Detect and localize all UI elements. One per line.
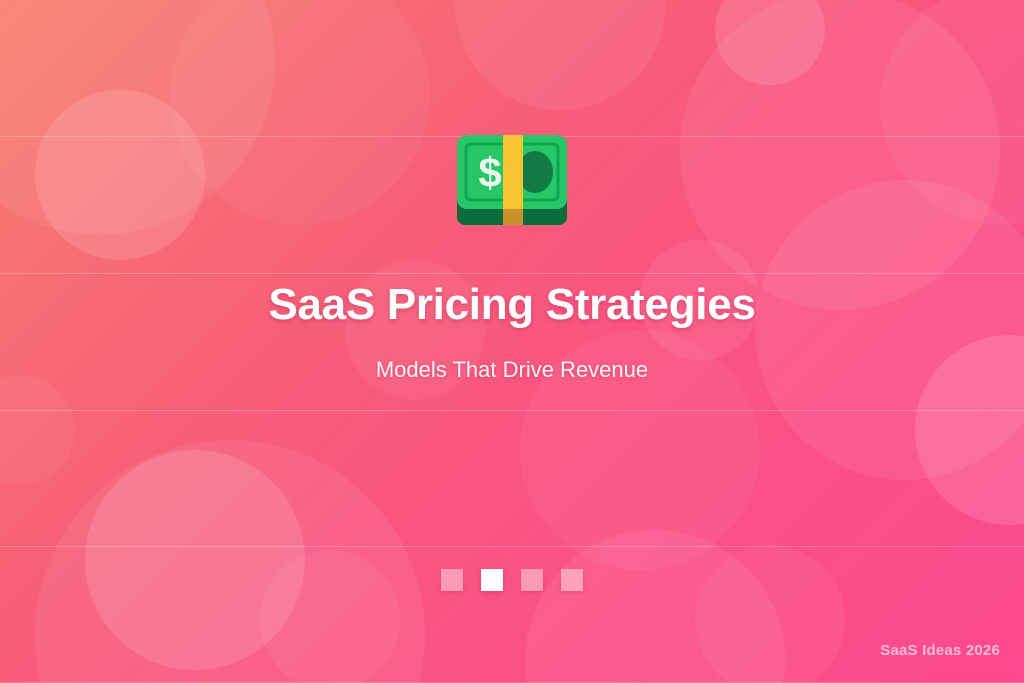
progress-dot-4[interactable] [561,569,583,591]
slide-content: $ SaaS Pricing Strategies Models That Dr… [0,0,1024,683]
progress-dot-1[interactable] [441,569,463,591]
banknote-emoji-icon: $ [0,131,1024,229]
progress-dot-2-active[interactable] [481,569,503,591]
slide-subtitle: Models That Drive Revenue [0,357,1024,383]
progress-dot-3[interactable] [521,569,543,591]
footer-brand-label: SaaS Ideas 2026 [880,642,1000,659]
page-title: SaaS Pricing Strategies [0,280,1024,330]
svg-text:$: $ [478,149,501,196]
presentation-slide: $ SaaS Pricing Strategies Models That Dr… [0,0,1024,683]
slide-progress-indicator[interactable] [0,569,1024,591]
